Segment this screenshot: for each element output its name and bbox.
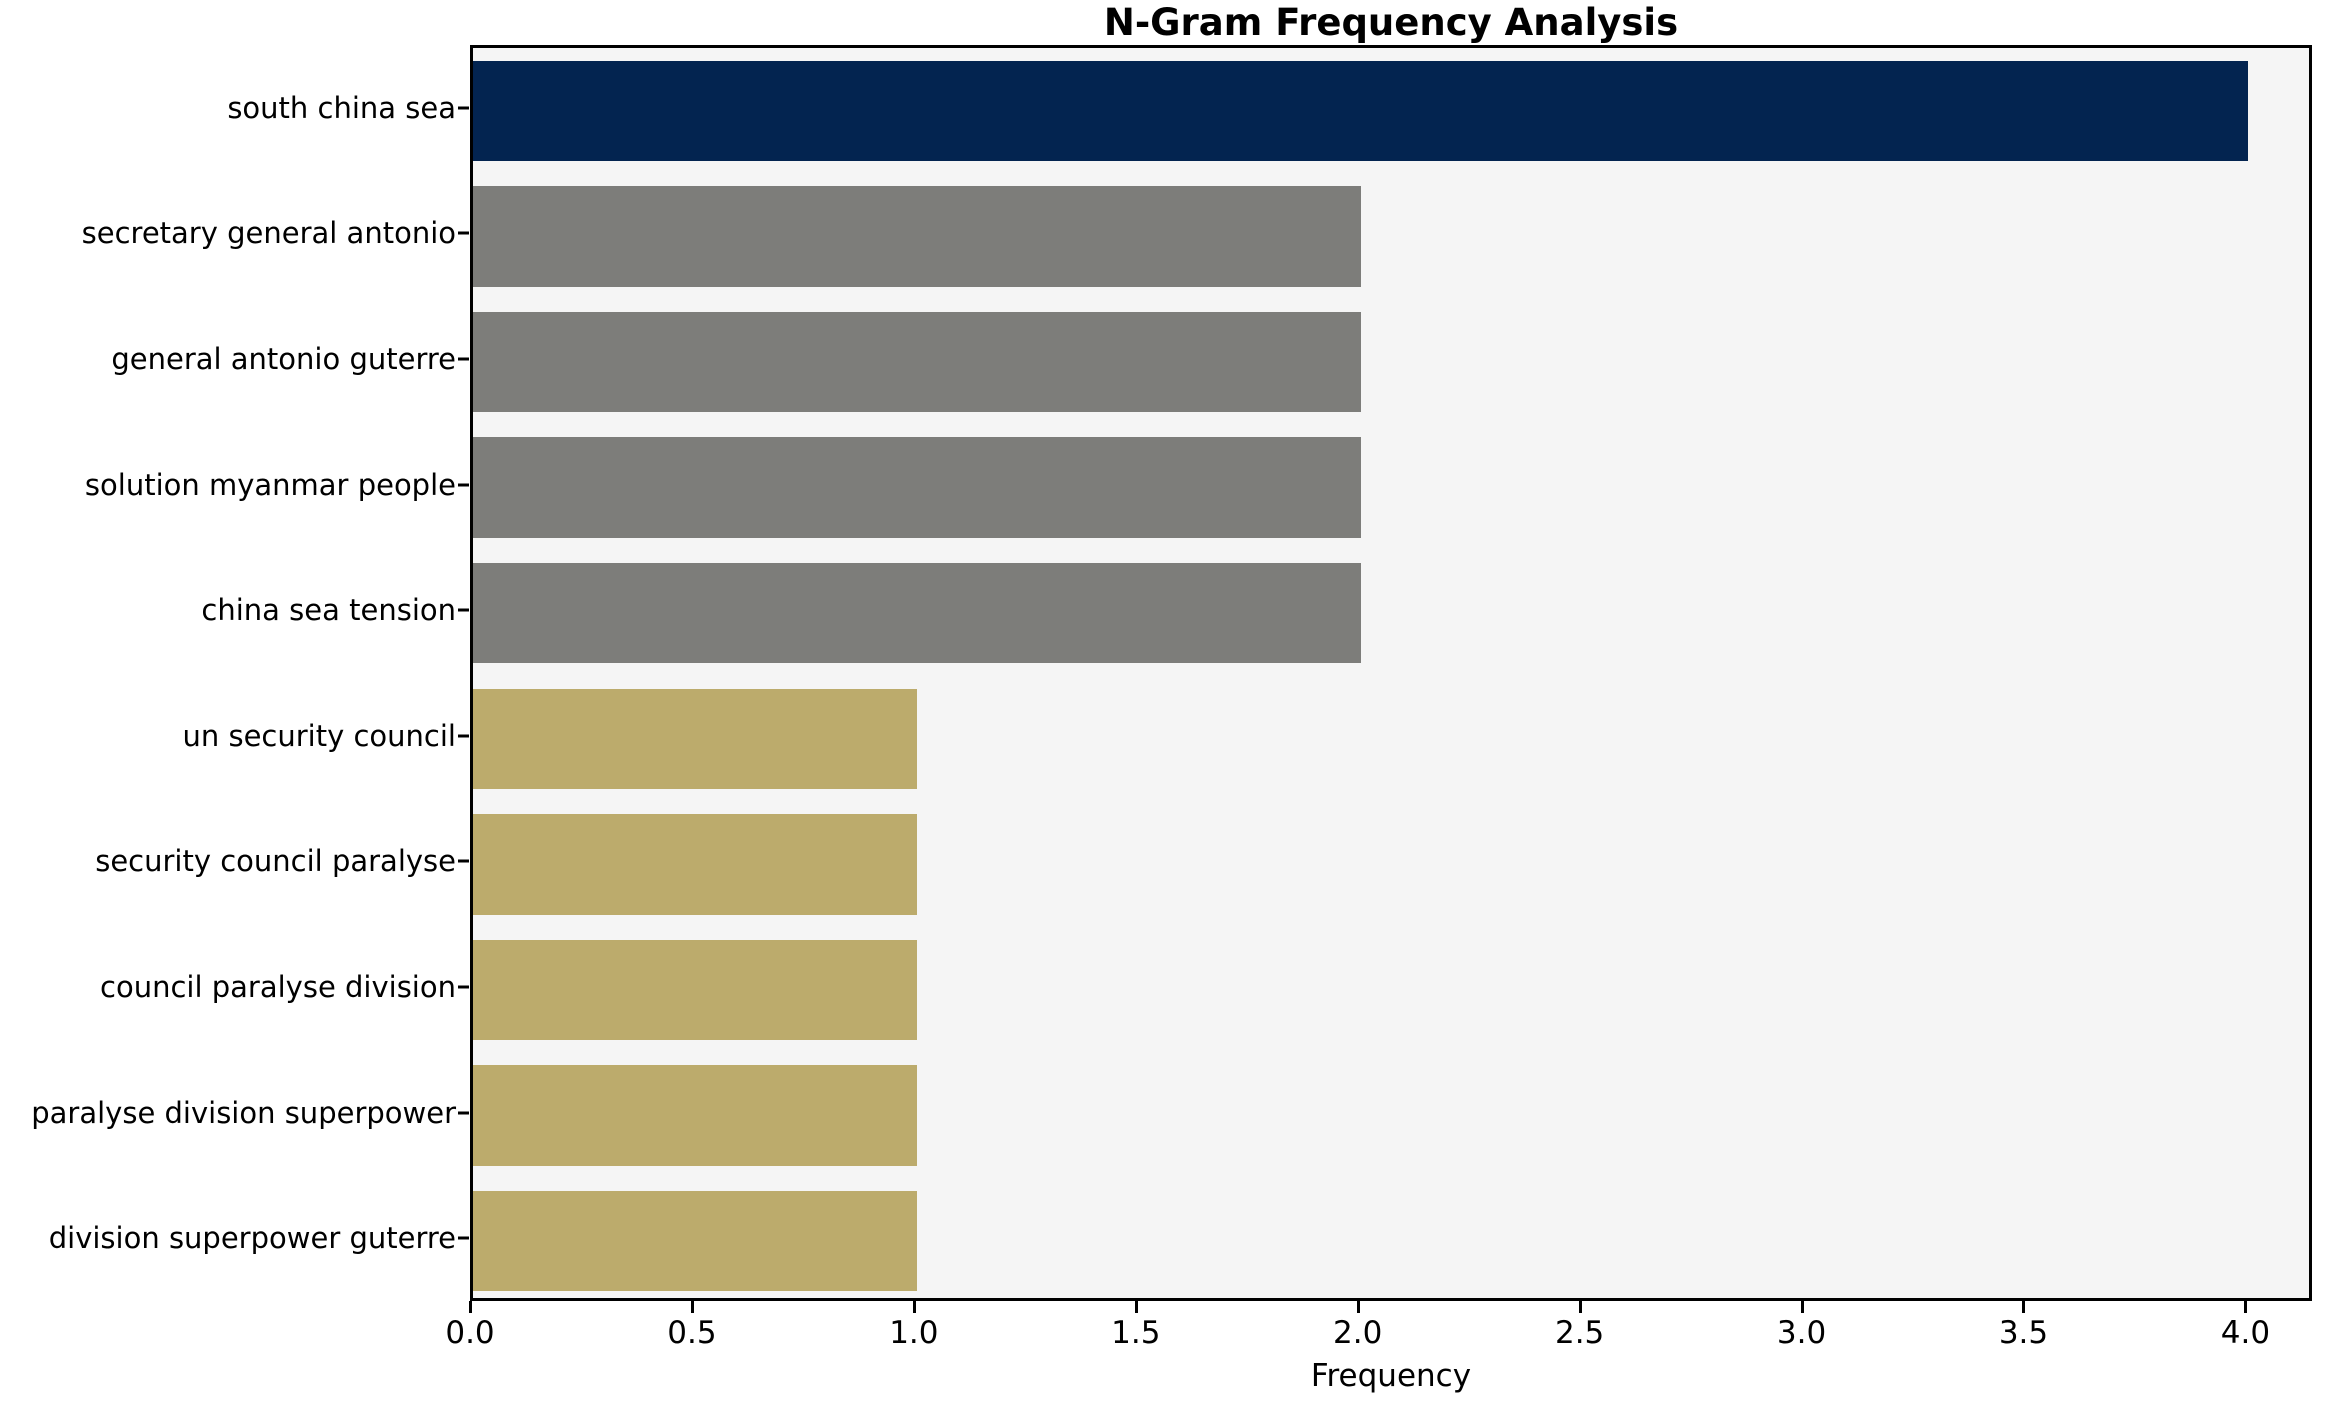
- bar-row: [473, 940, 2309, 1040]
- x-tick-label: 3.0: [1777, 1315, 1826, 1351]
- x-tick-mark: [1135, 1301, 1138, 1313]
- bar[interactable]: [473, 61, 2248, 161]
- x-tick-label: 2.5: [1555, 1315, 1604, 1351]
- y-tick-mark: [458, 986, 469, 989]
- y-tick-mark: [458, 483, 469, 486]
- x-tick-label: 4.0: [2221, 1315, 2270, 1351]
- bar[interactable]: [473, 940, 917, 1040]
- y-tick-mark: [458, 734, 469, 737]
- bar-row: [473, 1065, 2309, 1165]
- y-tick-mark: [458, 860, 469, 863]
- y-tick-label: south china sea: [0, 91, 456, 125]
- y-tick-label: paralyse division superpower: [0, 1096, 456, 1130]
- y-tick-label: security council paralyse: [0, 844, 456, 878]
- x-tick-mark: [2244, 1301, 2247, 1313]
- plot-area: [470, 45, 2312, 1301]
- x-tick-mark: [2022, 1301, 2025, 1313]
- x-tick-label: 0.0: [445, 1315, 494, 1351]
- y-tick-label: solution myanmar people: [0, 468, 456, 502]
- x-tick-label: 3.5: [1999, 1315, 2048, 1351]
- bar-row: [473, 186, 2309, 286]
- bar[interactable]: [473, 312, 1361, 412]
- y-tick-mark: [458, 1111, 469, 1114]
- y-tick-label: un security council: [0, 719, 456, 753]
- y-tick-mark: [458, 232, 469, 235]
- y-tick-label: china sea tension: [0, 593, 456, 627]
- bar[interactable]: [473, 1191, 917, 1291]
- bar[interactable]: [473, 689, 917, 789]
- y-tick-mark: [458, 609, 469, 612]
- x-tick-mark: [1801, 1301, 1804, 1313]
- y-tick-label: division superpower guterre: [0, 1221, 456, 1255]
- bar-row: [473, 61, 2309, 161]
- bar-row: [473, 689, 2309, 789]
- x-tick-label: 1.0: [889, 1315, 938, 1351]
- x-tick-mark: [1357, 1301, 1360, 1313]
- chart-title: N-Gram Frequency Analysis: [470, 2, 2312, 44]
- bar-row: [473, 437, 2309, 537]
- x-axis-label: Frequency: [470, 1358, 2312, 1394]
- x-tick-mark: [913, 1301, 916, 1313]
- y-tick-mark: [458, 358, 469, 361]
- bar[interactable]: [473, 563, 1361, 663]
- y-tick-mark: [458, 1237, 469, 1240]
- bars-container: [473, 48, 2309, 1298]
- y-tick-mark: [458, 106, 469, 109]
- bar-row: [473, 563, 2309, 663]
- x-tick-label: 2.0: [1333, 1315, 1382, 1351]
- bar-row: [473, 1191, 2309, 1291]
- bar-row: [473, 312, 2309, 412]
- y-tick-label: secretary general antonio: [0, 216, 456, 250]
- bar-row: [473, 814, 2309, 914]
- figure-canvas: N-Gram Frequency Analysis south china se…: [0, 0, 2349, 1414]
- bar[interactable]: [473, 1065, 917, 1165]
- bar[interactable]: [473, 186, 1361, 286]
- x-tick-mark: [1579, 1301, 1582, 1313]
- x-tick-label: 1.5: [1111, 1315, 1160, 1351]
- bar[interactable]: [473, 437, 1361, 537]
- x-tick-label: 0.5: [667, 1315, 716, 1351]
- y-tick-label: general antonio guterre: [0, 342, 456, 376]
- x-tick-mark: [469, 1301, 472, 1313]
- x-tick-mark: [691, 1301, 694, 1313]
- y-tick-label: council paralyse division: [0, 970, 456, 1004]
- bar[interactable]: [473, 814, 917, 914]
